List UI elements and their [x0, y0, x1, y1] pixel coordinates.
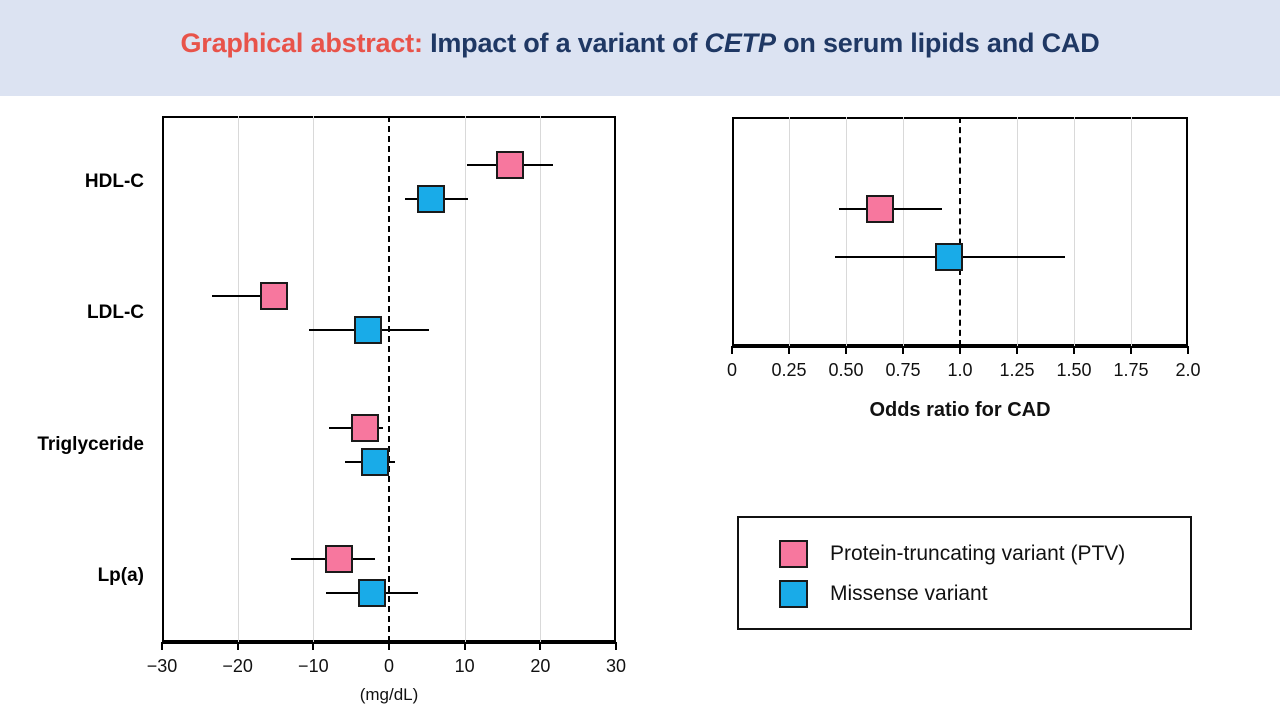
axis-tick [1130, 346, 1132, 354]
ptv-point-marker [325, 545, 353, 573]
missense-point-marker [358, 579, 386, 607]
ptv-point-marker [866, 195, 894, 223]
axis-tick-label: −10 [298, 656, 329, 677]
axis-tick [1073, 346, 1075, 354]
axis-tick [312, 642, 314, 650]
gridline [540, 116, 541, 642]
reference-line [388, 116, 390, 642]
axis-tick-label: 1.25 [999, 360, 1034, 381]
lipids-plot-layer [162, 116, 616, 642]
axis-tick [788, 346, 790, 354]
missense-point-marker [354, 316, 382, 344]
axis-tick-label: 1.75 [1113, 360, 1148, 381]
axis-tick [161, 642, 163, 650]
axis-tick-label: 30 [606, 656, 626, 677]
axis-tick [388, 642, 390, 650]
legend-item-missense: Missense variant [779, 580, 988, 608]
axis-tick [1187, 346, 1189, 354]
axis-tick [845, 346, 847, 354]
ptv-point-marker [496, 151, 524, 179]
legend-item-ptv: Protein-truncating variant (PTV) [779, 540, 1125, 568]
cad-x-axis-title: Odds ratio for CAD [869, 399, 1050, 422]
title-main-b: on serum lipids and CAD [783, 28, 1099, 58]
missense-point-marker [935, 243, 963, 271]
axis-tick-label: 1.50 [1056, 360, 1091, 381]
gridline [789, 117, 790, 346]
legend-swatch-missense [779, 580, 808, 608]
reference-line [959, 117, 961, 346]
page-title: Graphical abstract: Impact of a variant … [0, 28, 1280, 59]
missense-point-marker [417, 185, 445, 213]
lipids-y-axis-labels: HDL-CLDL-CTriglycerideLp(a) [0, 116, 158, 642]
axis-tick [464, 642, 466, 650]
title-gene-name: CETP [705, 28, 776, 58]
axis-tick-label: 10 [455, 656, 475, 677]
legend-label: Protein-truncating variant (PTV) [830, 542, 1125, 566]
gridline [903, 117, 904, 346]
ptv-point-marker [351, 414, 379, 442]
legend: Protein-truncating variant (PTV)Missense… [737, 516, 1192, 630]
axis-tick-label: 0 [727, 360, 737, 381]
lipids-y-label: HDL-C [4, 171, 144, 193]
axis-tick-label: 0.50 [828, 360, 863, 381]
lipids-y-label: LDL-C [4, 302, 144, 324]
cad-x-axis: 00.250.500.751.01.251.501.752.0 [732, 346, 1188, 396]
axis-tick-label: 1.0 [947, 360, 972, 381]
title-prefix: Graphical abstract: [180, 28, 422, 58]
gridline [313, 116, 314, 642]
title-main-a: Impact of a variant of [430, 28, 697, 58]
axis-tick-label: −30 [147, 656, 178, 677]
axis-tick [539, 642, 541, 650]
gridline [465, 116, 466, 642]
axis-tick [615, 642, 617, 650]
axis-tick-label: 0.75 [885, 360, 920, 381]
gridline [1131, 117, 1132, 346]
gridline [846, 117, 847, 346]
axis-tick-label: −20 [222, 656, 253, 677]
legend-swatch-ptv [779, 540, 808, 568]
axis-tick [902, 346, 904, 354]
missense-point-marker [361, 448, 389, 476]
axis-tick [731, 346, 733, 354]
legend-label: Missense variant [830, 582, 988, 606]
axis-tick [1016, 346, 1018, 354]
axis-tick-label: 0.25 [771, 360, 806, 381]
lipids-y-label: Lp(a) [4, 565, 144, 587]
axis-tick [237, 642, 239, 650]
axis-tick-label: 20 [530, 656, 550, 677]
axis-tick-label: 2.0 [1175, 360, 1200, 381]
lipids-y-label: Triglyceride [4, 434, 144, 456]
gridline [238, 116, 239, 642]
axis-tick-label: 0 [384, 656, 394, 677]
axis-tick [959, 346, 961, 354]
gridline [1017, 117, 1018, 346]
cad-plot-layer [732, 117, 1188, 346]
ptv-point-marker [260, 282, 288, 310]
lipids-x-axis-title: (mg/dL) [360, 685, 419, 705]
gridline [1074, 117, 1075, 346]
